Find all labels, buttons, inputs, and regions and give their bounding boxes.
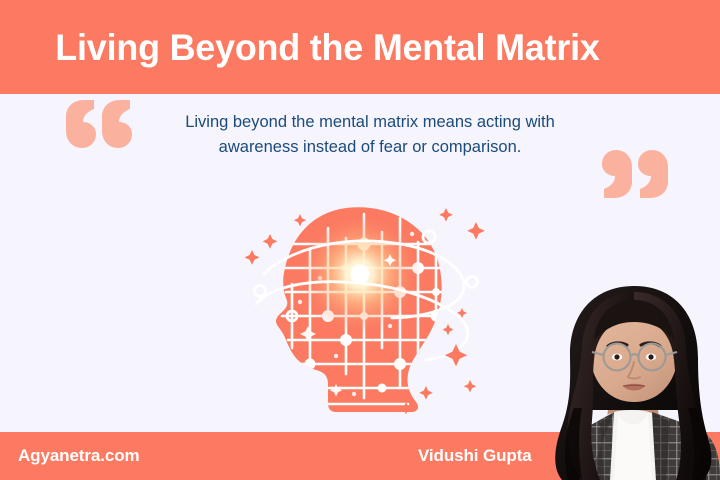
footer-author-name: Vidushi Gupta [418,445,532,467]
page-title: Living Beyond the Mental Matrix [0,29,600,66]
quote-text: Living beyond the mental matrix means ac… [150,110,590,160]
quote-close-icon [602,146,668,198]
footer-brand[interactable]: Agyanetra.com [18,445,140,467]
header-bar: Living Beyond the Mental Matrix [0,0,720,94]
author-portrait [548,282,720,480]
head-circuit-brain-illustration [240,198,490,430]
quote-open-icon [66,100,132,152]
quote-card: Living Beyond the Mental Matrix Living b… [0,0,720,480]
